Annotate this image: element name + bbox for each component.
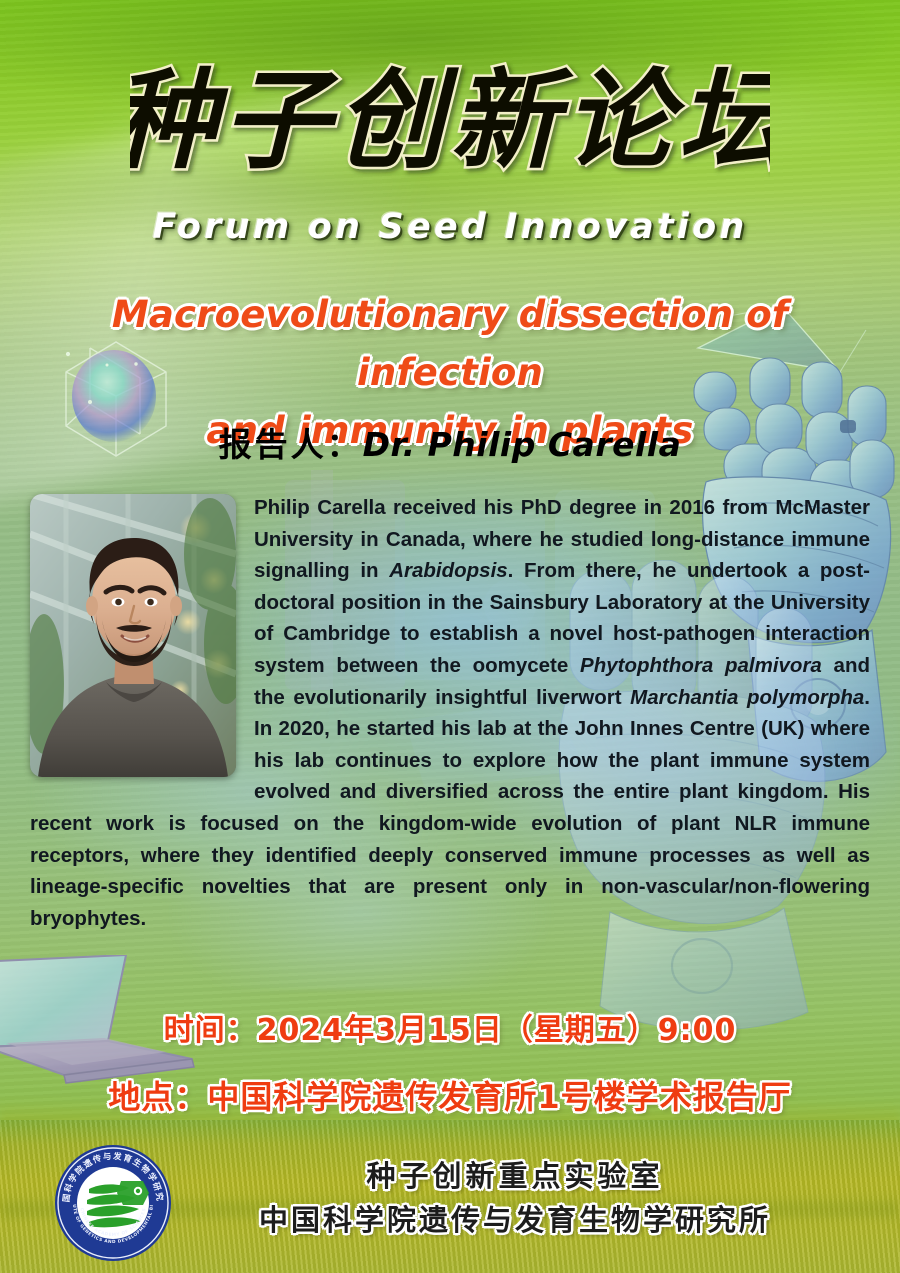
forum-chinese-title: 种子创新论坛 bbox=[0, 58, 900, 188]
seminar-poster: 种子创新论坛 Forum on Seed Innovation Macroevo… bbox=[0, 0, 900, 1273]
event-venue: 地点：中国科学院遗传发育所1号楼学术报告厅 bbox=[0, 1072, 900, 1118]
forum-english-title: Forum on Seed Innovation bbox=[0, 207, 900, 247]
organizer-institute-name: 中国科学院遗传与发育生物学研究所 bbox=[150, 1197, 880, 1243]
bio-italic-marchantia: Marchantia polymorpha bbox=[630, 686, 864, 709]
organizer-lab-name: 种子创新重点实验室 bbox=[150, 1155, 880, 1197]
bio-italic-phytophthora: Phytophthora palmivora bbox=[580, 654, 822, 677]
speaker-label: 报告人： bbox=[219, 425, 363, 464]
speaker-name: Dr. Philip Carella bbox=[363, 425, 682, 464]
svg-text:种子创新论坛: 种子创新论坛 bbox=[130, 59, 770, 184]
talk-title-line-1: Macroevolutionary dissection of infectio… bbox=[30, 286, 870, 402]
bio-italic-arabidopsis: Arabidopsis bbox=[389, 559, 507, 582]
speaker-line: 报告人：Dr. Philip Carella bbox=[0, 418, 900, 466]
speaker-portrait-photo bbox=[30, 494, 236, 777]
organizer-block: 种子创新重点实验室 中国科学院遗传与发育生物学研究所 bbox=[150, 1155, 880, 1243]
speaker-biography: Philip Carella received his PhD degree i… bbox=[30, 492, 870, 934]
event-time: 时间：2024年3月15日（星期五）9:00 bbox=[0, 1005, 900, 1049]
